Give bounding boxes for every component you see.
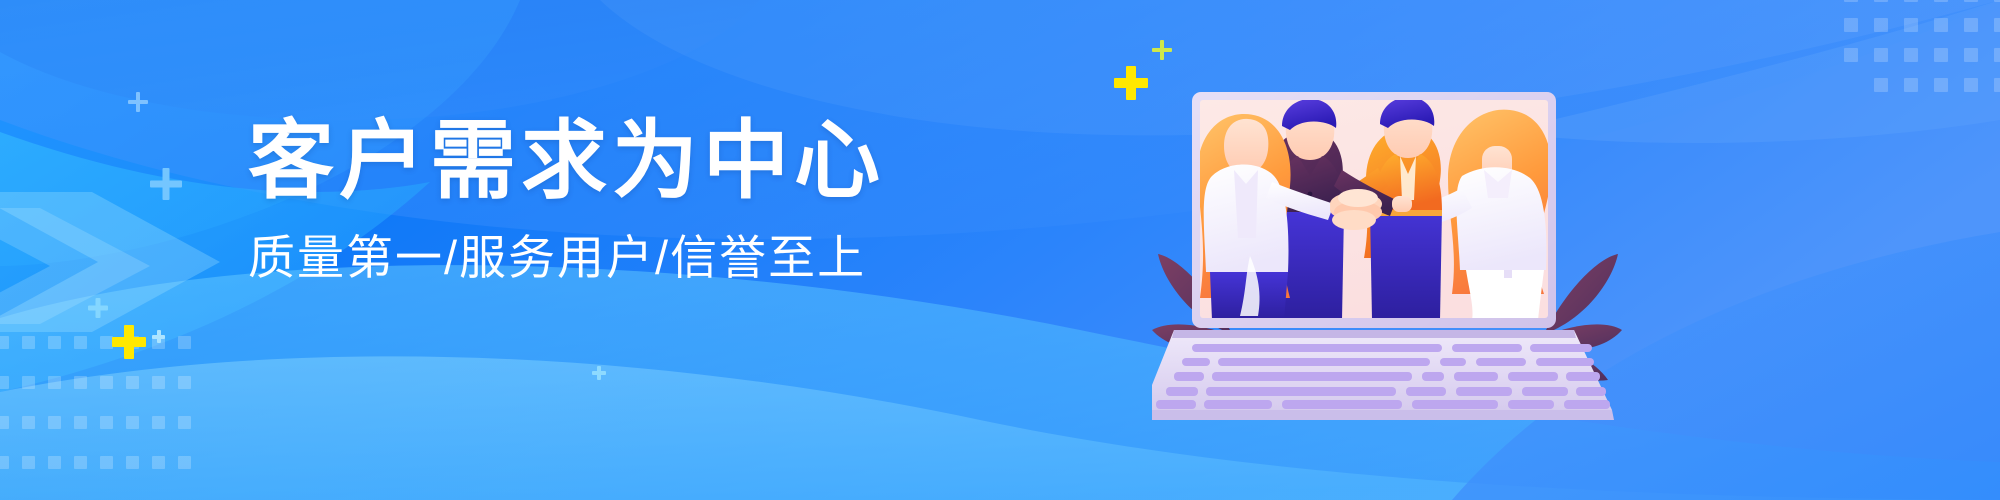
plus-yellow-bottom-left-icon [112, 325, 146, 359]
page-subtitle: 质量第一/服务用户/信誉至上 [248, 234, 848, 281]
hero-banner: 客户需求为中心 质量第一/服务用户/信誉至上 [0, 0, 2000, 500]
plus-small-top-left-icon [128, 92, 148, 112]
laptop-illustration [1152, 58, 1622, 448]
laptop-hinge [1172, 330, 1576, 338]
page-title: 客户需求为中心 [248, 118, 848, 204]
headline-text-block: 客户需求为中心 质量第一/服务用户/信誉至上 [248, 118, 848, 281]
plus-tiny-bottom-left-icon [152, 330, 165, 343]
dot-grid-cells-top-right [1844, 0, 2000, 92]
plus-tiny-mid-bottom-icon [592, 366, 606, 380]
plus-yellow-near-laptop-icon [1114, 66, 1148, 100]
plus-cyan-bottom-left-icon [88, 298, 108, 318]
laptop-base [1152, 330, 1612, 410]
plus-medium-upper-left-icon [150, 168, 182, 200]
plus-green-near-laptop-icon [1152, 40, 1172, 60]
laptop-front-edge [1152, 410, 1614, 420]
